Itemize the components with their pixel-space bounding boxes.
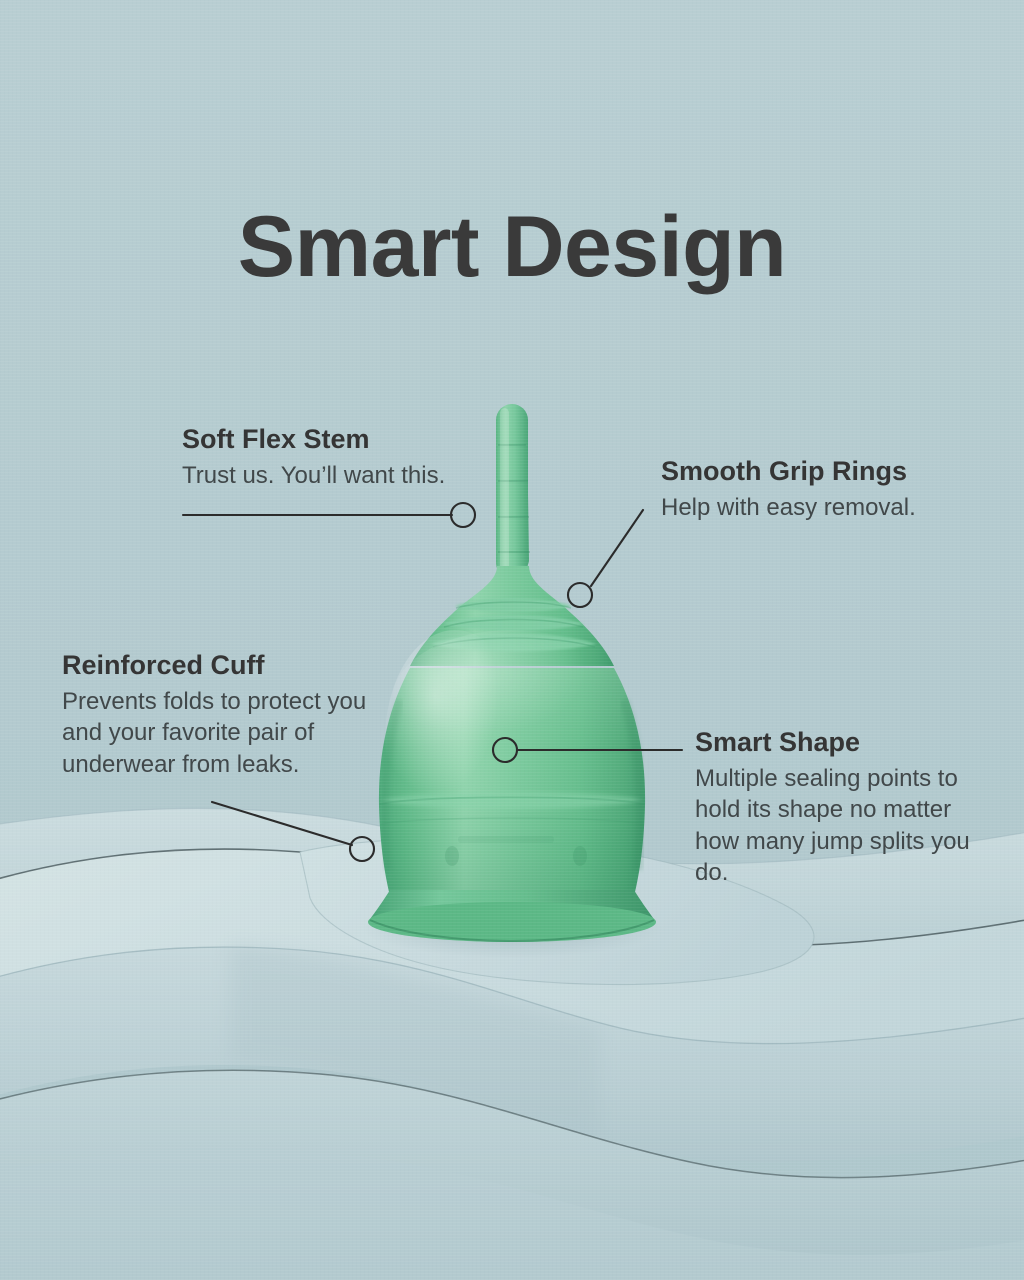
leader-line-smooth-grip-rings [591,510,643,586]
callout-soft-flex-stem: Soft Flex Stem Trust us. You’ll want thi… [182,424,445,491]
callout-body-smooth-grip-rings: Help with easy removal. [661,492,916,523]
leader-marker-soft-flex-stem [451,503,475,527]
leader-marker-smart-shape [493,738,517,762]
callout-smart-shape: Smart Shape Multiple sealing points to h… [695,727,973,889]
callout-heading-reinforced-cuff: Reinforced Cuff [62,650,367,682]
leader-marker-smooth-grip-rings [568,583,592,607]
callout-smooth-grip-rings: Smooth Grip Rings Help with easy removal… [661,456,916,523]
callout-body-soft-flex-stem: Trust us. You’ll want this. [182,460,445,491]
infographic-canvas: Smart Design Soft Flex Stem Trust us. Yo… [0,0,1024,1280]
leader-line-reinforced-cuff [212,802,352,845]
page-title: Smart Design [0,204,1024,290]
callout-body-reinforced-cuff: Prevents folds to protect you and your f… [62,686,367,780]
leader-marker-reinforced-cuff [350,837,374,861]
callout-heading-smart-shape: Smart Shape [695,727,973,759]
callout-reinforced-cuff: Reinforced Cuff Prevents folds to protec… [62,650,367,780]
callout-heading-soft-flex-stem: Soft Flex Stem [182,424,445,456]
callout-leader-lines [0,0,1024,1280]
callout-heading-smooth-grip-rings: Smooth Grip Rings [661,456,916,488]
callout-body-smart-shape: Multiple sealing points to hold its shap… [695,763,973,889]
